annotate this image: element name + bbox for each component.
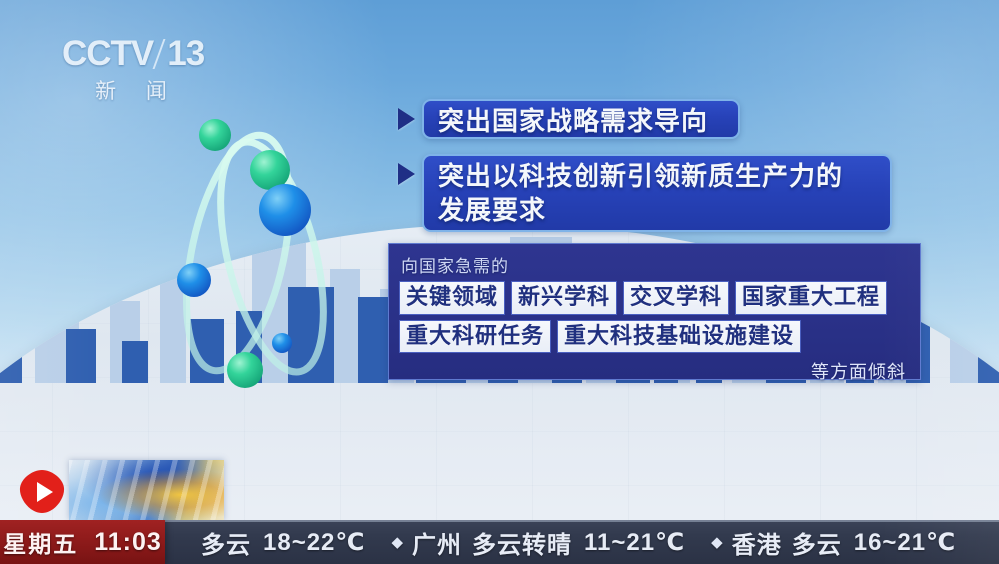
atom-molecule-icon bbox=[160, 105, 360, 405]
ticker-time: 11:03 bbox=[94, 528, 162, 557]
headline-2-line-1: 突出以科技创新引领新质生产力的 bbox=[438, 159, 843, 193]
headline-2-line-2: 发展要求 bbox=[438, 193, 546, 227]
bullet-diamond-icon: ◆ bbox=[391, 533, 404, 551]
ticker-weekday: 星期五 bbox=[3, 525, 78, 559]
weather-city: 广州 bbox=[412, 525, 462, 560]
weather-condition: 多云 bbox=[201, 525, 251, 560]
channel-number: 13 bbox=[167, 36, 204, 71]
tag-item: 关键领域 bbox=[399, 281, 505, 315]
tag-row-2: 重大科研任务 重大科技基础设施建设 bbox=[399, 320, 910, 354]
tag-row-1: 关键领域 新兴学科 交叉学科 国家重大工程 bbox=[399, 281, 910, 315]
channel-sub-label: 新 闻 bbox=[62, 75, 212, 105]
weather-temp: 18~22℃ bbox=[263, 528, 365, 557]
weather-temp: 11~21℃ bbox=[584, 528, 685, 557]
triangle-bullet-icon bbox=[398, 108, 415, 130]
weather-city: 香港 bbox=[732, 525, 782, 560]
station-ident-bug bbox=[69, 460, 224, 520]
weather-condition: 多云 bbox=[792, 525, 842, 560]
weather-item: ◆ 香港 多云 16~21℃ bbox=[711, 525, 956, 560]
headline-banner-2: 突出以科技创新引领新质生产力的 发展要求 bbox=[422, 154, 892, 232]
channel-logo: CCTV 13 新 闻 bbox=[62, 36, 232, 104]
weather-item: ◆ 广州 多云转晴 11~21℃ bbox=[391, 525, 685, 560]
tag-item: 国家重大工程 bbox=[735, 281, 887, 315]
ticker-datetime: 星期五 11:03 bbox=[0, 520, 165, 564]
weather-temp: 16~21℃ bbox=[854, 528, 956, 557]
ticker-weather-list: 多云 18~22℃ ◆ 广州 多云转晴 11~21℃ ◆ 香港 多云 16~21… bbox=[165, 525, 956, 560]
tag-item: 交叉学科 bbox=[623, 281, 729, 315]
play-button-watermark-icon[interactable] bbox=[18, 469, 66, 515]
network-name: CCTV bbox=[62, 36, 153, 71]
headline-banner-1: 突出国家战略需求导向 bbox=[422, 99, 740, 139]
triangle-bullet-icon bbox=[398, 163, 415, 185]
bullet-diamond-icon: ◆ bbox=[711, 533, 724, 551]
bug-streak-pattern bbox=[69, 460, 224, 520]
tag-item: 重大科技基础设施建设 bbox=[557, 320, 801, 354]
tag-item: 重大科研任务 bbox=[399, 320, 551, 354]
info-panel-heading: 向国家急需的 bbox=[401, 252, 910, 277]
broadcast-frame: CCTV 13 新 闻 突出国家战略需求导向 突出以科技创新引领新质生产力的 发… bbox=[0, 0, 999, 564]
info-panel: 向国家急需的 关键领域 新兴学科 交叉学科 国家重大工程 重大科研任务 重大科技… bbox=[388, 243, 921, 380]
weather-condition: 多云转晴 bbox=[472, 525, 572, 560]
headline-1-line-1: 突出国家战略需求导向 bbox=[438, 101, 708, 138]
tag-item: 新兴学科 bbox=[511, 281, 617, 315]
bottom-ticker-bar: 星期五 11:03 多云 18~22℃ ◆ 广州 多云转晴 11~21℃ ◆ 香… bbox=[0, 520, 999, 564]
channel-logo-main: CCTV 13 bbox=[62, 36, 232, 71]
info-panel-footer: 等方面倾斜 bbox=[399, 358, 910, 384]
logo-divider-icon bbox=[153, 39, 166, 69]
weather-item: 多云 18~22℃ bbox=[183, 525, 365, 560]
